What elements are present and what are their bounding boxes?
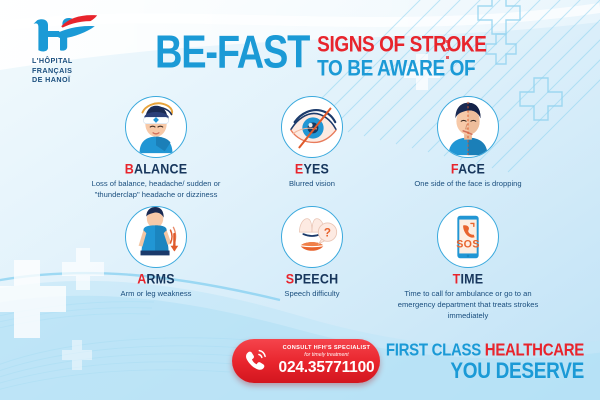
symptom-title-rest: ALANCE <box>134 161 187 176</box>
symptom-desc-eyes: Blurred vision <box>234 178 390 189</box>
symptom-title-first-letter: S <box>286 271 295 286</box>
headline-to-be-aware-of: TO BE AWARE OF <box>317 58 486 80</box>
logo-wordmark: L'HÔPITAL FRANÇAIS DE HANOÏ <box>18 56 114 85</box>
cta-headline: CONSULT HFH'S SPECIALIST <box>273 345 380 351</box>
symptom-title-rest: RMS <box>146 271 174 286</box>
symptom-card-arms[interactable]: ARMS Arm or leg weakness <box>78 206 234 321</box>
symptom-title-balance: BALANCE <box>78 161 234 176</box>
symptom-card-time[interactable]: SOS TIME Time to call for ambulance or g… <box>390 206 546 321</box>
symptom-card-speech[interactable]: ? SPEECH Speech difficulty <box>234 206 390 321</box>
phone-sos-icon: SOS <box>438 207 498 267</box>
symptom-desc-arms: Arm or leg weakness <box>78 288 234 299</box>
call-specialist-button[interactable]: CONSULT HFH'S SPECIALIST for timely trea… <box>232 339 380 383</box>
symptom-title-rest: IME <box>461 271 484 286</box>
time-icon-circle: SOS <box>437 206 499 268</box>
symptom-desc-speech: Speech difficulty <box>234 288 390 299</box>
tagline-line-1: FIRST CLASS HEALTHCARE <box>386 342 584 360</box>
phone-ringing-icon <box>242 348 268 374</box>
symptom-title-arms: ARMS <box>78 271 234 286</box>
symptom-card-balance[interactable]: BALANCE Loss of balance, headache/ sudde… <box>78 96 234 200</box>
symptoms-row-1: BALANCE Loss of balance, headache/ sudde… <box>78 96 548 200</box>
speech-difficulty-lips-icon: ? <box>282 207 342 267</box>
eye-blurred-vision-icon <box>282 97 342 157</box>
hfh-logo-mark <box>30 14 102 54</box>
cta-phone-number[interactable]: 024.35771100 <box>273 359 380 377</box>
symptom-title-time: TIME <box>390 271 546 286</box>
logo-line-1: L'HÔPITAL <box>32 56 114 66</box>
tagline-healthcare: HEALTHCARE <box>485 341 584 361</box>
face-icon-circle <box>437 96 499 158</box>
tagline-line-2: YOU DESERVE <box>386 361 584 383</box>
svg-text:SOS: SOS <box>456 239 480 251</box>
stroke-awareness-poster: L'HÔPITAL FRANÇAIS DE HANOÏ BE-FAST SIGN… <box>0 0 600 400</box>
symptom-title-first-letter: T <box>453 271 461 286</box>
brand-tagline: FIRST CLASS HEALTHCARE YOU DESERVE <box>386 343 584 382</box>
cta-subline: for timely treatment <box>273 352 380 358</box>
headline-subtitles: SIGNS OF STROKE TO BE AWARE OF <box>317 34 486 77</box>
symptom-title-rest: ACE <box>458 161 485 176</box>
balance-icon-circle <box>125 96 187 158</box>
symptom-title-first-letter: F <box>451 161 458 176</box>
symptom-title-rest: YES <box>303 161 329 176</box>
svg-text:?: ? <box>324 227 331 240</box>
face-drooping-icon <box>438 97 498 157</box>
symptom-card-eyes[interactable]: EYES Blurred vision <box>234 96 390 200</box>
headline: BE-FAST SIGNS OF STROKE TO BE AWARE OF <box>155 32 486 77</box>
symptoms-row-2: ARMS Arm or leg weakness <box>78 206 548 321</box>
headline-signs-of-stroke: SIGNS OF STROKE <box>317 34 486 56</box>
tagline-first-class: FIRST CLASS <box>386 341 485 361</box>
symptom-title-eyes: EYES <box>234 161 390 176</box>
symptom-desc-balance: Loss of balance, headache/ sudden or "th… <box>78 178 234 200</box>
symptom-title-rest: PEECH <box>294 271 338 286</box>
eyes-icon-circle <box>281 96 343 158</box>
symptom-title-face: FACE <box>390 161 546 176</box>
cta-text-block: CONSULT HFH'S SPECIALIST for timely trea… <box>273 345 380 377</box>
symptoms-grid: BALANCE Loss of balance, headache/ sudde… <box>78 96 548 321</box>
logo-line-3: DE HANOÏ <box>32 75 114 85</box>
symptom-title-speech: SPEECH <box>234 271 390 286</box>
symptom-desc-face: One side of the face is dropping <box>390 178 546 189</box>
logo-line-2: FRANÇAIS <box>32 66 114 76</box>
speech-icon-circle: ? <box>281 206 343 268</box>
symptom-card-face[interactable]: FACE One side of the face is dropping <box>390 96 546 200</box>
page-title-acronym: BE-FAST <box>155 32 309 75</box>
hospital-logo: L'HÔPITAL FRANÇAIS DE HANOÏ <box>18 14 114 85</box>
dizzy-head-bandage-icon <box>126 97 186 157</box>
arm-weakness-icon <box>126 207 186 267</box>
symptom-title-first-letter: B <box>125 161 134 176</box>
arms-icon-circle <box>125 206 187 268</box>
symptom-desc-time: Time to call for ambulance or go to an e… <box>390 288 546 321</box>
